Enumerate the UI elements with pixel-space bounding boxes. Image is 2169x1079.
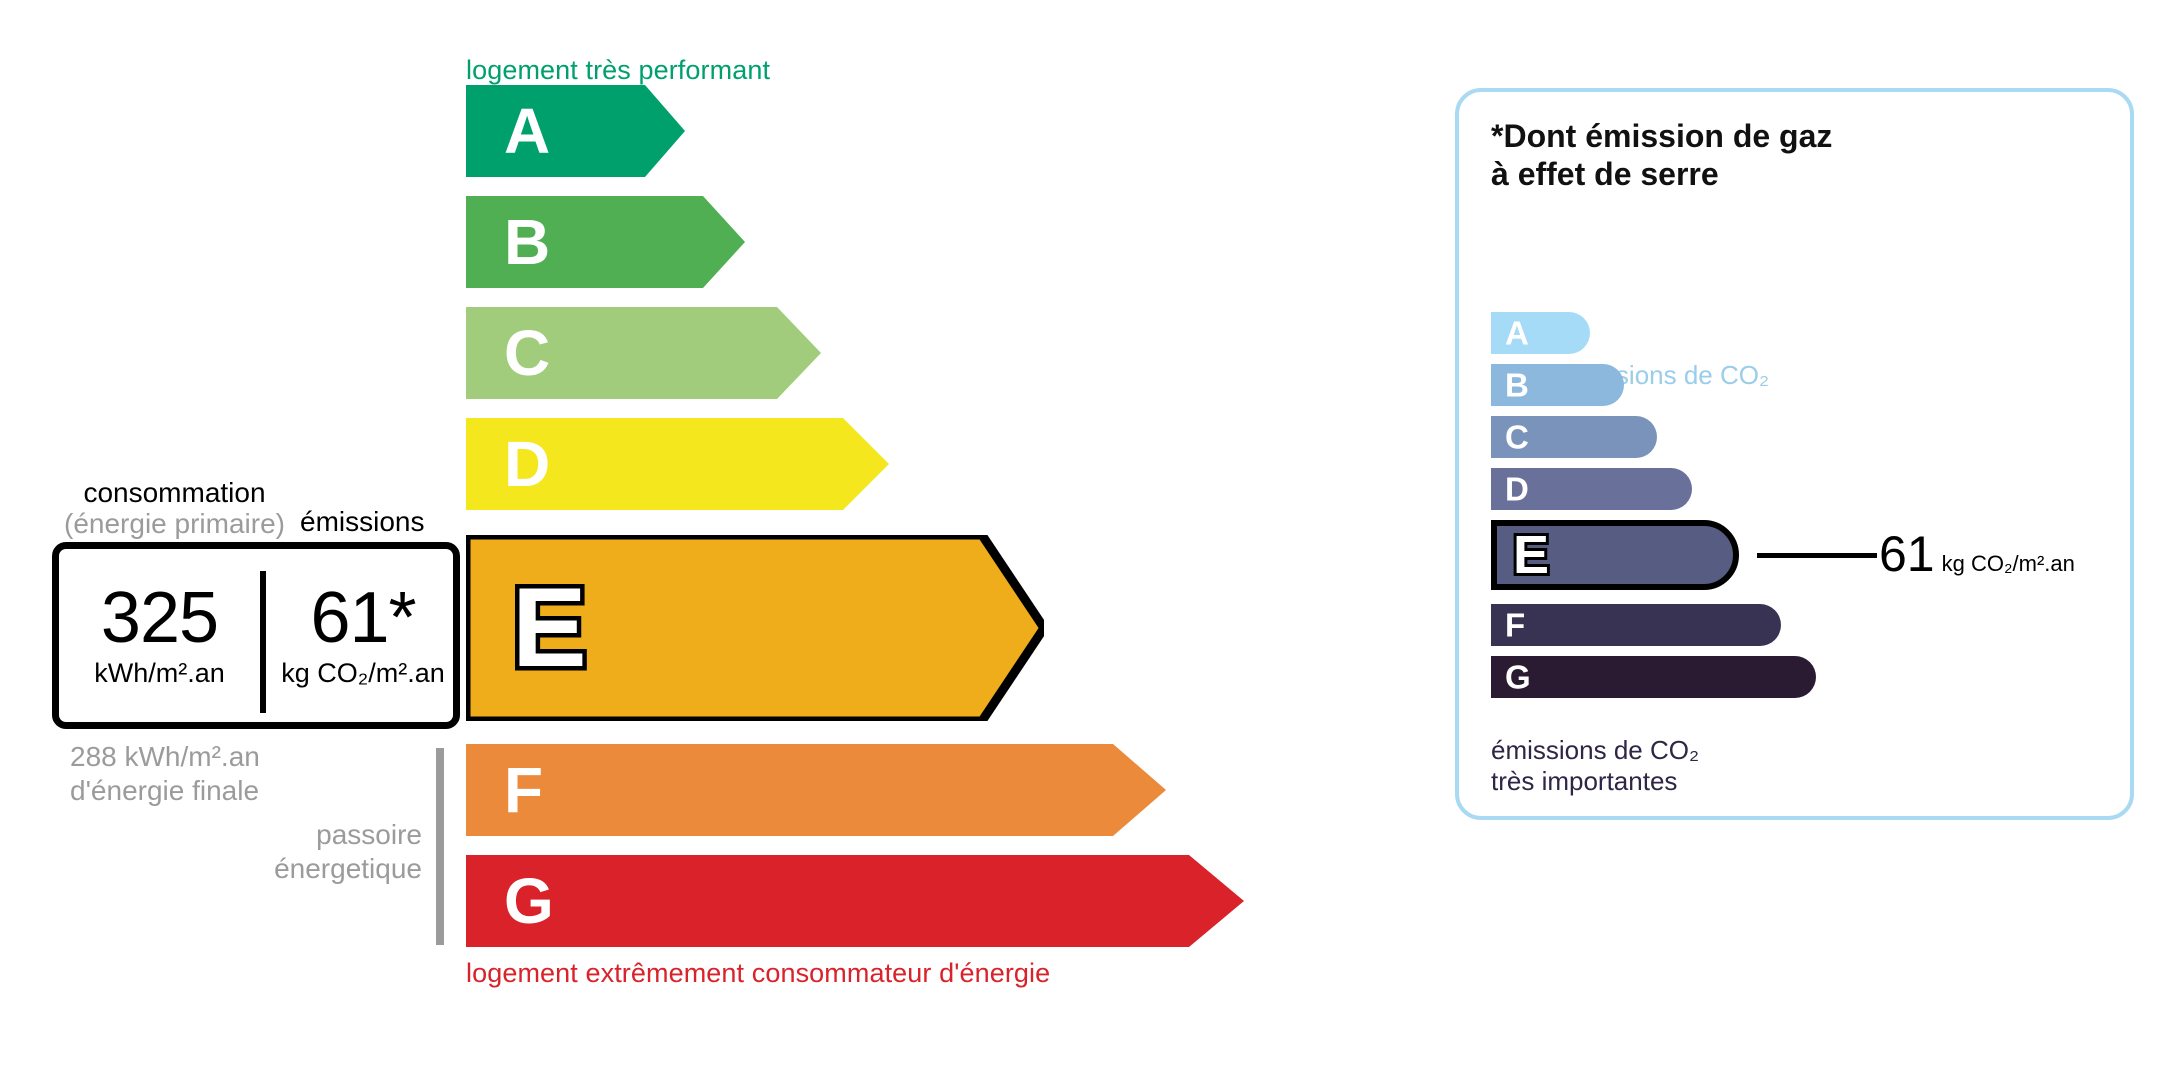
band-arrow-shape <box>466 744 1166 836</box>
energy-band-g: G <box>466 855 1244 947</box>
co2-bar-f: F <box>1491 604 1781 646</box>
passoire-line1: passoire <box>316 819 422 850</box>
co2-bar-b: B <box>1491 364 1624 406</box>
ladder-top-caption: logement très performant <box>466 55 770 86</box>
co2-bar-letter: D <box>1505 473 1529 506</box>
energy-band-b: B <box>466 196 745 288</box>
energy-band-d: D <box>466 418 889 510</box>
final-energy-line1: 288 kWh/m².an <box>70 741 260 772</box>
consumption-label: consommation (énergie primaire) <box>62 477 287 540</box>
co2-value-annotation: 61kg CO₂/m².an <box>1879 529 2075 579</box>
consumption-value: 325 <box>101 584 218 653</box>
co2-panel-title: *Dont émission de gaz à effet de serre <box>1491 118 1832 194</box>
passoire-line2: énergetique <box>274 853 422 884</box>
co2-bottom-caption: émissions de CO₂ très importantes <box>1491 735 1699 797</box>
band-arrow-shape <box>466 196 745 288</box>
dpe-diagram: logement très performant ABCDEFG 325 kWh… <box>0 0 2169 1079</box>
co2-bar-letter: B <box>1505 369 1529 402</box>
final-energy-note: 288 kWh/m².an d'énergie finale <box>70 740 260 808</box>
passoire-bracket-line <box>436 748 444 945</box>
co2-bar-letter: E <box>1513 528 1549 582</box>
co2-bar-g: G <box>1491 656 1816 698</box>
co2-bar-a: A <box>1491 312 1590 354</box>
band-arrow-shape <box>466 85 685 177</box>
consumption-label-sub: (énergie primaire) <box>62 508 287 539</box>
ladder-bottom-caption: logement extrêmement consommateur d'éner… <box>466 958 1050 989</box>
band-arrow-shape <box>466 855 1244 947</box>
co2-bar-c: C <box>1491 416 1657 458</box>
emissions-label: émissions <box>300 506 424 538</box>
energy-band-e: E <box>466 535 1044 721</box>
co2-bottom-line2: très importantes <box>1491 766 1677 796</box>
co2-bar-letter: F <box>1505 609 1525 642</box>
consumption-label-main: consommation <box>83 477 265 508</box>
emissions-cell: 61* kg CO₂/m².an <box>266 549 460 722</box>
band-arrow-shape <box>466 418 889 510</box>
band-arrow-shape <box>466 535 1044 721</box>
emissions-unit: kg CO₂/m².an <box>281 660 445 687</box>
co2-bottom-line1: émissions de CO₂ <box>1491 735 1699 765</box>
final-energy-line2: d'énergie finale <box>70 775 259 806</box>
emissions-value: 61* <box>310 584 415 653</box>
co2-value-leader-line <box>1757 553 1877 558</box>
energy-band-f: F <box>466 744 1166 836</box>
co2-title-line2: à effet de serre <box>1491 156 1719 192</box>
co2-emissions-panel: *Dont émission de gaz à effet de serre p… <box>1455 88 2134 820</box>
co2-bar-e: E <box>1491 520 1739 590</box>
co2-bar-letter: C <box>1505 421 1529 454</box>
band-arrow-shape <box>466 307 821 399</box>
co2-bar-d: D <box>1491 468 1692 510</box>
passoire-note: passoire énergetique <box>262 818 422 886</box>
co2-bar-letter: G <box>1505 661 1531 694</box>
consumption-unit: kWh/m².an <box>94 660 225 687</box>
co2-title-line1: *Dont émission de gaz <box>1491 118 1832 154</box>
co2-bar-letter: A <box>1505 317 1529 350</box>
energy-band-c: C <box>466 307 821 399</box>
energy-band-a: A <box>466 85 685 177</box>
co2-value-number: 61 <box>1879 526 1935 582</box>
co2-value-unit: kg CO₂/m².an <box>1942 551 2075 576</box>
consumption-cell: 325 kWh/m².an <box>59 549 260 722</box>
energy-performance-ladder: logement très performant ABCDEFG 325 kWh… <box>0 0 1380 1079</box>
energy-value-box: 325 kWh/m².an 61* kg CO₂/m².an <box>52 542 460 729</box>
